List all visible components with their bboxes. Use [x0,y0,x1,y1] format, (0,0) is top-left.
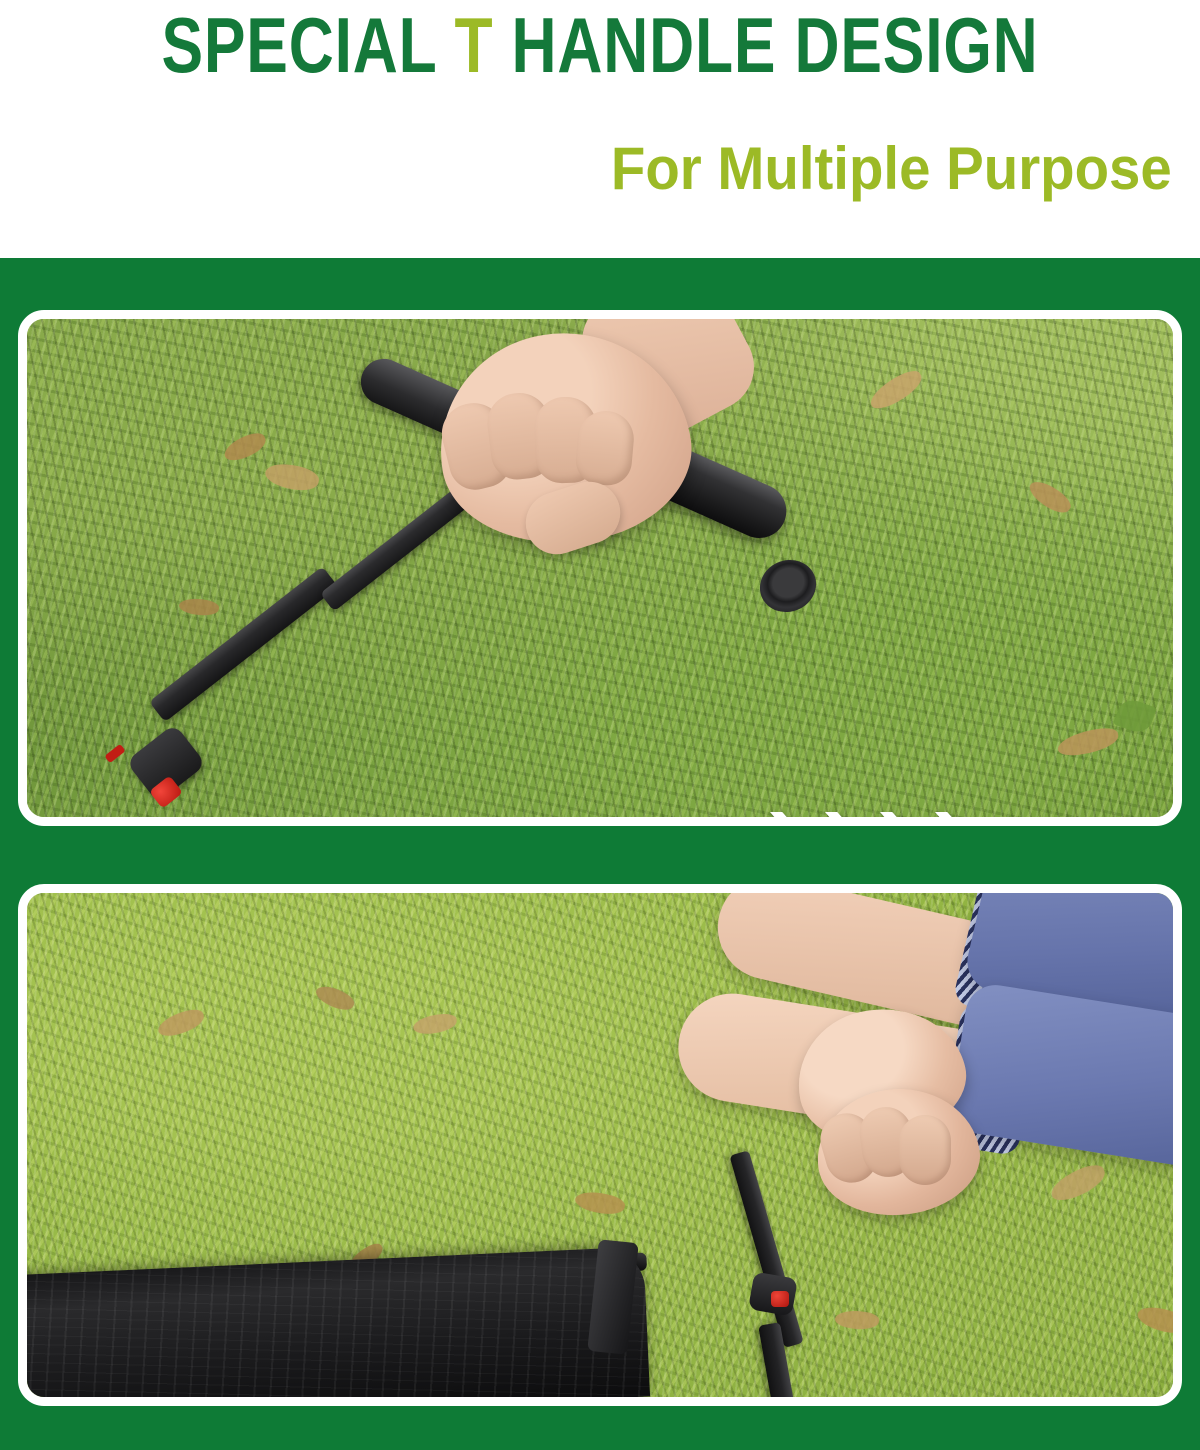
page-subtitle: For Multiple Purpose [72,134,1200,204]
title-accent-letter: T [455,1,494,89]
chevron-right-icon [935,812,982,817]
header-section: SPECIAL T HANDLE DESIGN For Multiple Pur… [0,0,1200,258]
title-text-before: SPECIAL [161,1,454,89]
chevron-right-icon [770,812,817,817]
photo-push: Push for woking pets [27,893,1173,1397]
page-title: SPECIAL T HANDLE DESIGN [120,2,1080,88]
photo-pull: Pull for carrying your grocery [27,319,1173,817]
marketing-image: SPECIAL T HANDLE DESIGN For Multiple Pur… [0,0,1200,1450]
hand-gripping-handle [405,319,725,609]
title-text-after: HANDLE DESIGN [493,1,1038,89]
photo-panel-push: Push for woking pets [18,884,1182,1406]
chevron-right-icon [880,812,927,817]
photo-panel-pull: Pull for carrying your grocery [18,310,1182,826]
fingers [823,1107,973,1211]
red-lock-button [771,1291,789,1307]
chevron-right-icon [825,812,872,817]
chevron-group-right [770,812,982,817]
